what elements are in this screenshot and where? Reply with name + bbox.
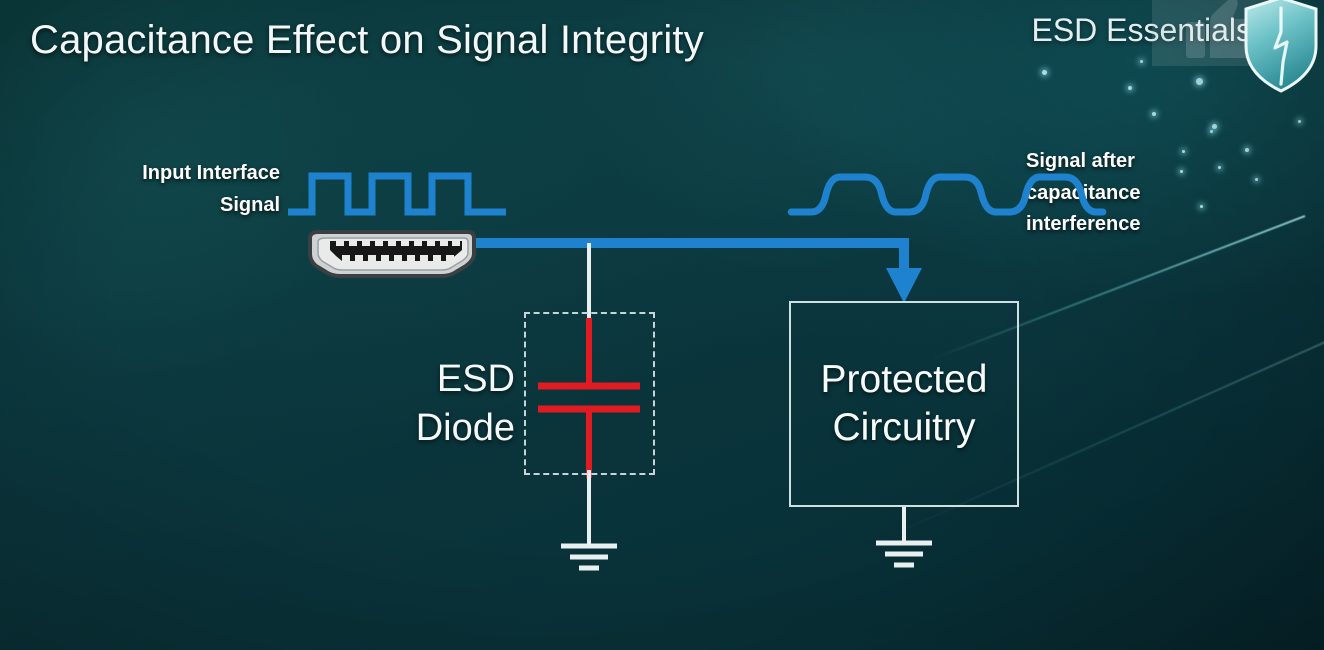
ground-symbol-icon <box>876 543 932 565</box>
signal-trace-wire <box>470 243 904 277</box>
protected-circuitry-box: ProtectedCircuitry <box>789 301 1019 507</box>
output-rounded-waveform <box>791 177 1103 212</box>
signal-arrow-icon <box>886 268 922 303</box>
hdmi-connector-icon <box>310 232 474 276</box>
schematic-diagram <box>0 0 1324 650</box>
input-square-waveform <box>288 176 506 212</box>
esd-diode-boundary-box <box>524 312 655 475</box>
slide-canvas: Capacitance Effect on Signal Integrity E… <box>0 0 1324 650</box>
protected-circuitry-label: ProtectedCircuitry <box>821 356 988 451</box>
ground-symbol-icon <box>561 546 617 568</box>
